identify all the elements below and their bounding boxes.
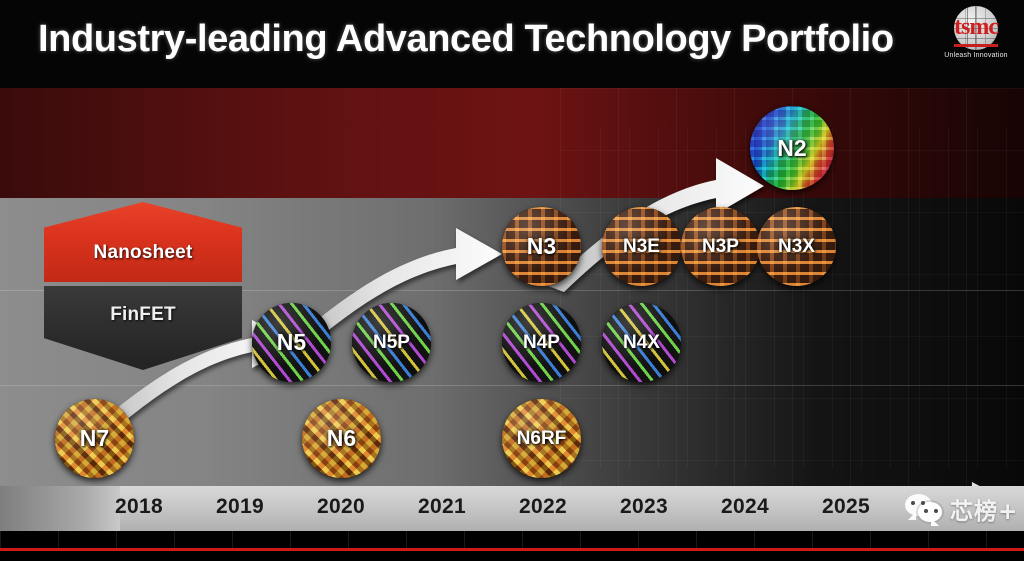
node-n4p-label: N4P [523, 332, 560, 354]
timeline-year-2022: 2022 [519, 495, 567, 519]
row-divider-n7 [0, 385, 1024, 386]
node-n4x[interactable]: N4X [602, 303, 681, 382]
footer-red-rule [0, 548, 1024, 551]
node-n3-label: N3 [527, 233, 556, 260]
timeline-year-2019: 2019 [216, 495, 264, 519]
node-n5p-label: N5P [373, 332, 410, 354]
timeline-year-2024: 2024 [721, 495, 769, 519]
wechat-icon [905, 494, 945, 524]
node-n6[interactable]: N6 [302, 399, 381, 478]
node-n2-label: N2 [777, 135, 806, 162]
node-n3p[interactable]: N3P [681, 207, 760, 286]
node-n5p[interactable]: N5P [352, 303, 431, 382]
node-n3e-label: N3E [623, 236, 660, 258]
banner-finfet-label: FinFET [110, 304, 176, 326]
timeline-year-2021: 2021 [418, 495, 466, 519]
timeline-year-2020: 2020 [317, 495, 365, 519]
node-n4p[interactable]: N4P [502, 303, 581, 382]
node-n5[interactable]: N5 [252, 303, 331, 382]
node-n2[interactable]: N2 [750, 106, 834, 190]
timeline-year-2025: 2025 [822, 495, 870, 519]
node-n3p-label: N3P [702, 236, 739, 258]
slide-header: Industry-leading Advanced Technology Por… [0, 0, 1024, 88]
timeline-year-2018: 2018 [115, 495, 163, 519]
watermark-text: 芯榜+ [950, 492, 1018, 526]
node-n7-label: N7 [80, 425, 109, 452]
node-n6rf[interactable]: N6RF [502, 399, 581, 478]
node-n3x-label: N3X [778, 236, 815, 258]
node-n4x-label: N4X [623, 332, 660, 354]
slide-root: Industry-leading Advanced Technology Por… [0, 0, 1024, 561]
timeline-axis: 2018 2019 2020 2021 2022 2023 2024 2025 [0, 486, 1024, 531]
node-n6rf-label: N6RF [517, 428, 567, 450]
wechat-watermark: 芯榜+ [905, 492, 1018, 526]
node-n5-label: N5 [277, 329, 306, 356]
node-n3e[interactable]: N3E [602, 207, 681, 286]
roadmap-canvas: Nanosheet FinFET N2 N3 N3E N3P N3X N5 N5… [0, 88, 1024, 486]
node-n3[interactable]: N3 [502, 207, 581, 286]
timeline-year-2023: 2023 [620, 495, 668, 519]
logo-underline [954, 44, 998, 47]
node-n3x[interactable]: N3X [757, 207, 836, 286]
tsmc-logo: tsmc Unleash Innovation [938, 4, 1014, 78]
banner-nanosheet-label: Nanosheet [94, 242, 193, 264]
tsmc-wordmark: tsmc [938, 14, 1014, 41]
tsmc-tagline: Unleash Innovation [936, 52, 1016, 59]
timeline-lead [0, 486, 120, 531]
node-n6-label: N6 [327, 425, 356, 452]
nanosheet-band [0, 88, 1024, 198]
node-n7[interactable]: N7 [55, 399, 134, 478]
footer-grid-pattern [0, 531, 1024, 548]
page-title: Industry-leading Advanced Technology Por… [38, 18, 894, 61]
